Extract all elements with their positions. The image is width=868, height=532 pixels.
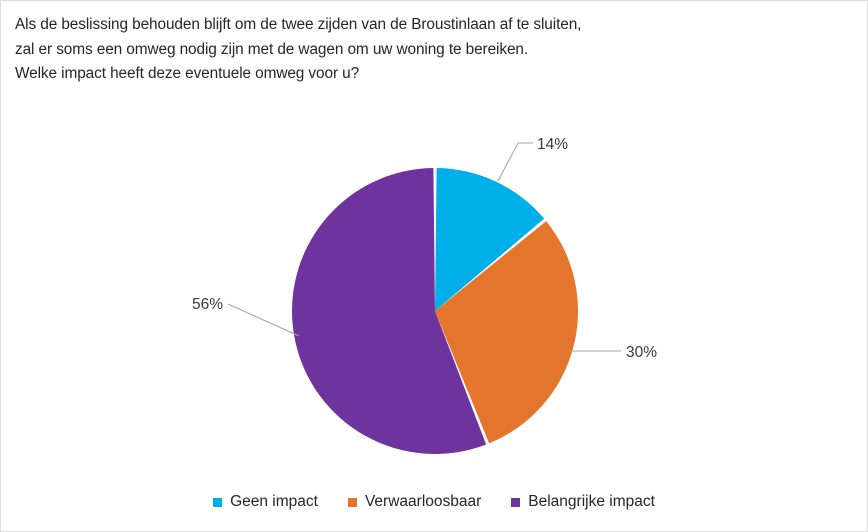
pie-chart-card: Als de beslissing behouden blijft om de …: [0, 0, 868, 532]
legend-item-belangrijke-impact[interactable]: Belangrijke impact: [511, 493, 655, 511]
legend-item-label: Verwaarloosbaar: [365, 493, 481, 511]
pie-chart-graphic: 14% 30% 56%: [1, 97, 867, 477]
data-label-belangrijke-impact: 56%: [192, 296, 223, 313]
leader-line-belangrijke-impact: [228, 304, 299, 336]
plot-area: 14% 30% 56%: [1, 97, 867, 477]
legend-item-label: Belangrijke impact: [528, 493, 655, 511]
legend-item-geen-impact[interactable]: Geen impact: [213, 493, 318, 511]
legend-item-verwaarloosbaar[interactable]: Verwaarloosbaar: [348, 493, 481, 511]
chart-legend: Geen impact Verwaarloosbaar Belangrijke …: [1, 493, 867, 511]
chart-title: Als de beslissing behouden blijft om de …: [15, 13, 775, 87]
legend-swatch-icon: [511, 498, 520, 507]
leader-line-geen-impact: [498, 143, 533, 181]
data-label-geen-impact: 14%: [537, 136, 568, 153]
data-label-verwaarloosbaar: 30%: [626, 344, 657, 361]
legend-swatch-icon: [213, 498, 222, 507]
legend-swatch-icon: [348, 498, 357, 507]
legend-item-label: Geen impact: [230, 493, 318, 511]
